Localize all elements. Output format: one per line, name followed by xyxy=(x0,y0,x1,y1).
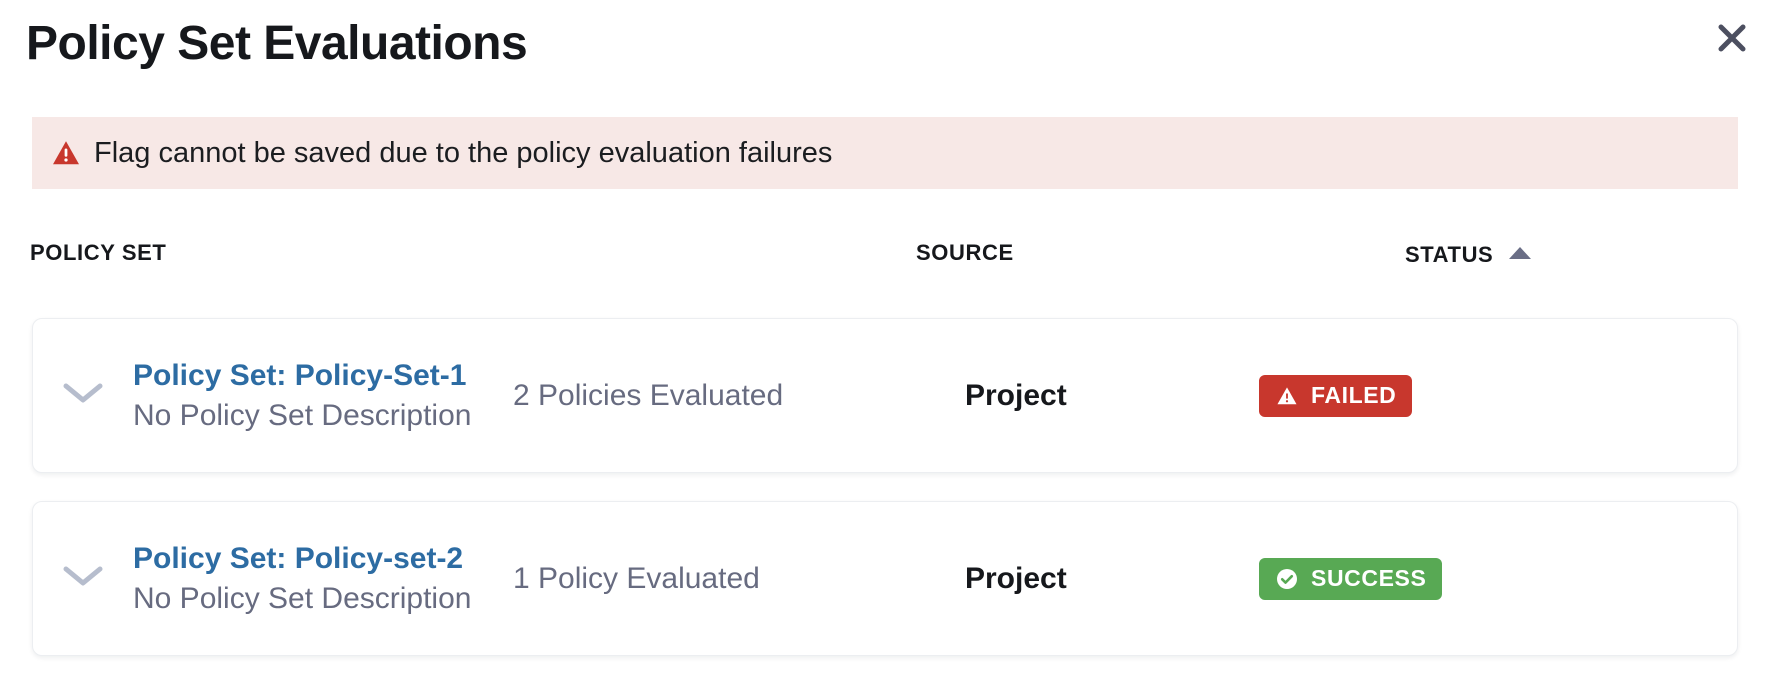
policy-set-link[interactable]: Policy Set: Policy-Set-1 xyxy=(133,356,451,396)
status-badge-label: FAILED xyxy=(1311,382,1396,409)
policy-set-link[interactable]: Policy Set: Policy-set-2 xyxy=(133,539,451,579)
check-circle-icon xyxy=(1275,567,1299,591)
status-badge-label: SUCCESS xyxy=(1311,565,1426,592)
column-header-status-label: STATUS xyxy=(1405,242,1493,268)
policy-set-description: No Policy Set Description xyxy=(133,396,451,436)
table-row[interactable]: Policy Set: Policy-set-2 No Policy Set D… xyxy=(32,501,1738,656)
error-alert-banner: Flag cannot be saved due to the policy e… xyxy=(32,117,1738,189)
warning-triangle-icon xyxy=(1275,384,1299,408)
column-header-status[interactable]: STATUS xyxy=(1405,242,1531,268)
policy-set-status-cell: FAILED xyxy=(1229,375,1737,417)
dialog-header: Policy Set Evaluations xyxy=(0,0,1782,100)
policy-set-status-cell: SUCCESS xyxy=(1229,558,1737,600)
policy-set-source: Project xyxy=(911,379,1229,413)
policies-evaluated-count: 2 Policies Evaluated xyxy=(451,379,911,413)
policy-set-source: Project xyxy=(911,562,1229,596)
column-header-source: SOURCE xyxy=(916,240,1014,266)
expand-row-button[interactable] xyxy=(33,562,133,595)
policy-set-evaluations-dialog: Policy Set Evaluations Flag cannot be sa… xyxy=(0,0,1782,694)
column-header-source-label: SOURCE xyxy=(916,240,1014,266)
status-badge: SUCCESS xyxy=(1259,558,1442,600)
column-header-policy-set: POLICY SET xyxy=(30,240,166,266)
status-badge: FAILED xyxy=(1259,375,1412,417)
column-header-policy-set-label: POLICY SET xyxy=(30,240,166,266)
table-header-row: POLICY SET SOURCE STATUS xyxy=(0,218,1782,270)
policy-set-info: Policy Set: Policy-set-2 No Policy Set D… xyxy=(133,539,451,619)
sort-ascending-icon xyxy=(1509,247,1531,259)
policy-set-info: Policy Set: Policy-Set-1 No Policy Set D… xyxy=(133,356,451,436)
close-icon xyxy=(1712,18,1752,58)
alert-message: Flag cannot be saved due to the policy e… xyxy=(94,136,832,170)
chevron-down-icon xyxy=(61,562,105,595)
expand-row-button[interactable] xyxy=(33,379,133,412)
warning-triangle-icon xyxy=(50,137,82,169)
policy-set-list: Policy Set: Policy-Set-1 No Policy Set D… xyxy=(32,318,1738,684)
policies-evaluated-count: 1 Policy Evaluated xyxy=(451,562,911,596)
page-title: Policy Set Evaluations xyxy=(26,14,527,74)
close-button[interactable] xyxy=(1704,10,1760,66)
chevron-down-icon xyxy=(61,379,105,412)
table-row[interactable]: Policy Set: Policy-Set-1 No Policy Set D… xyxy=(32,318,1738,473)
policy-set-description: No Policy Set Description xyxy=(133,579,451,619)
